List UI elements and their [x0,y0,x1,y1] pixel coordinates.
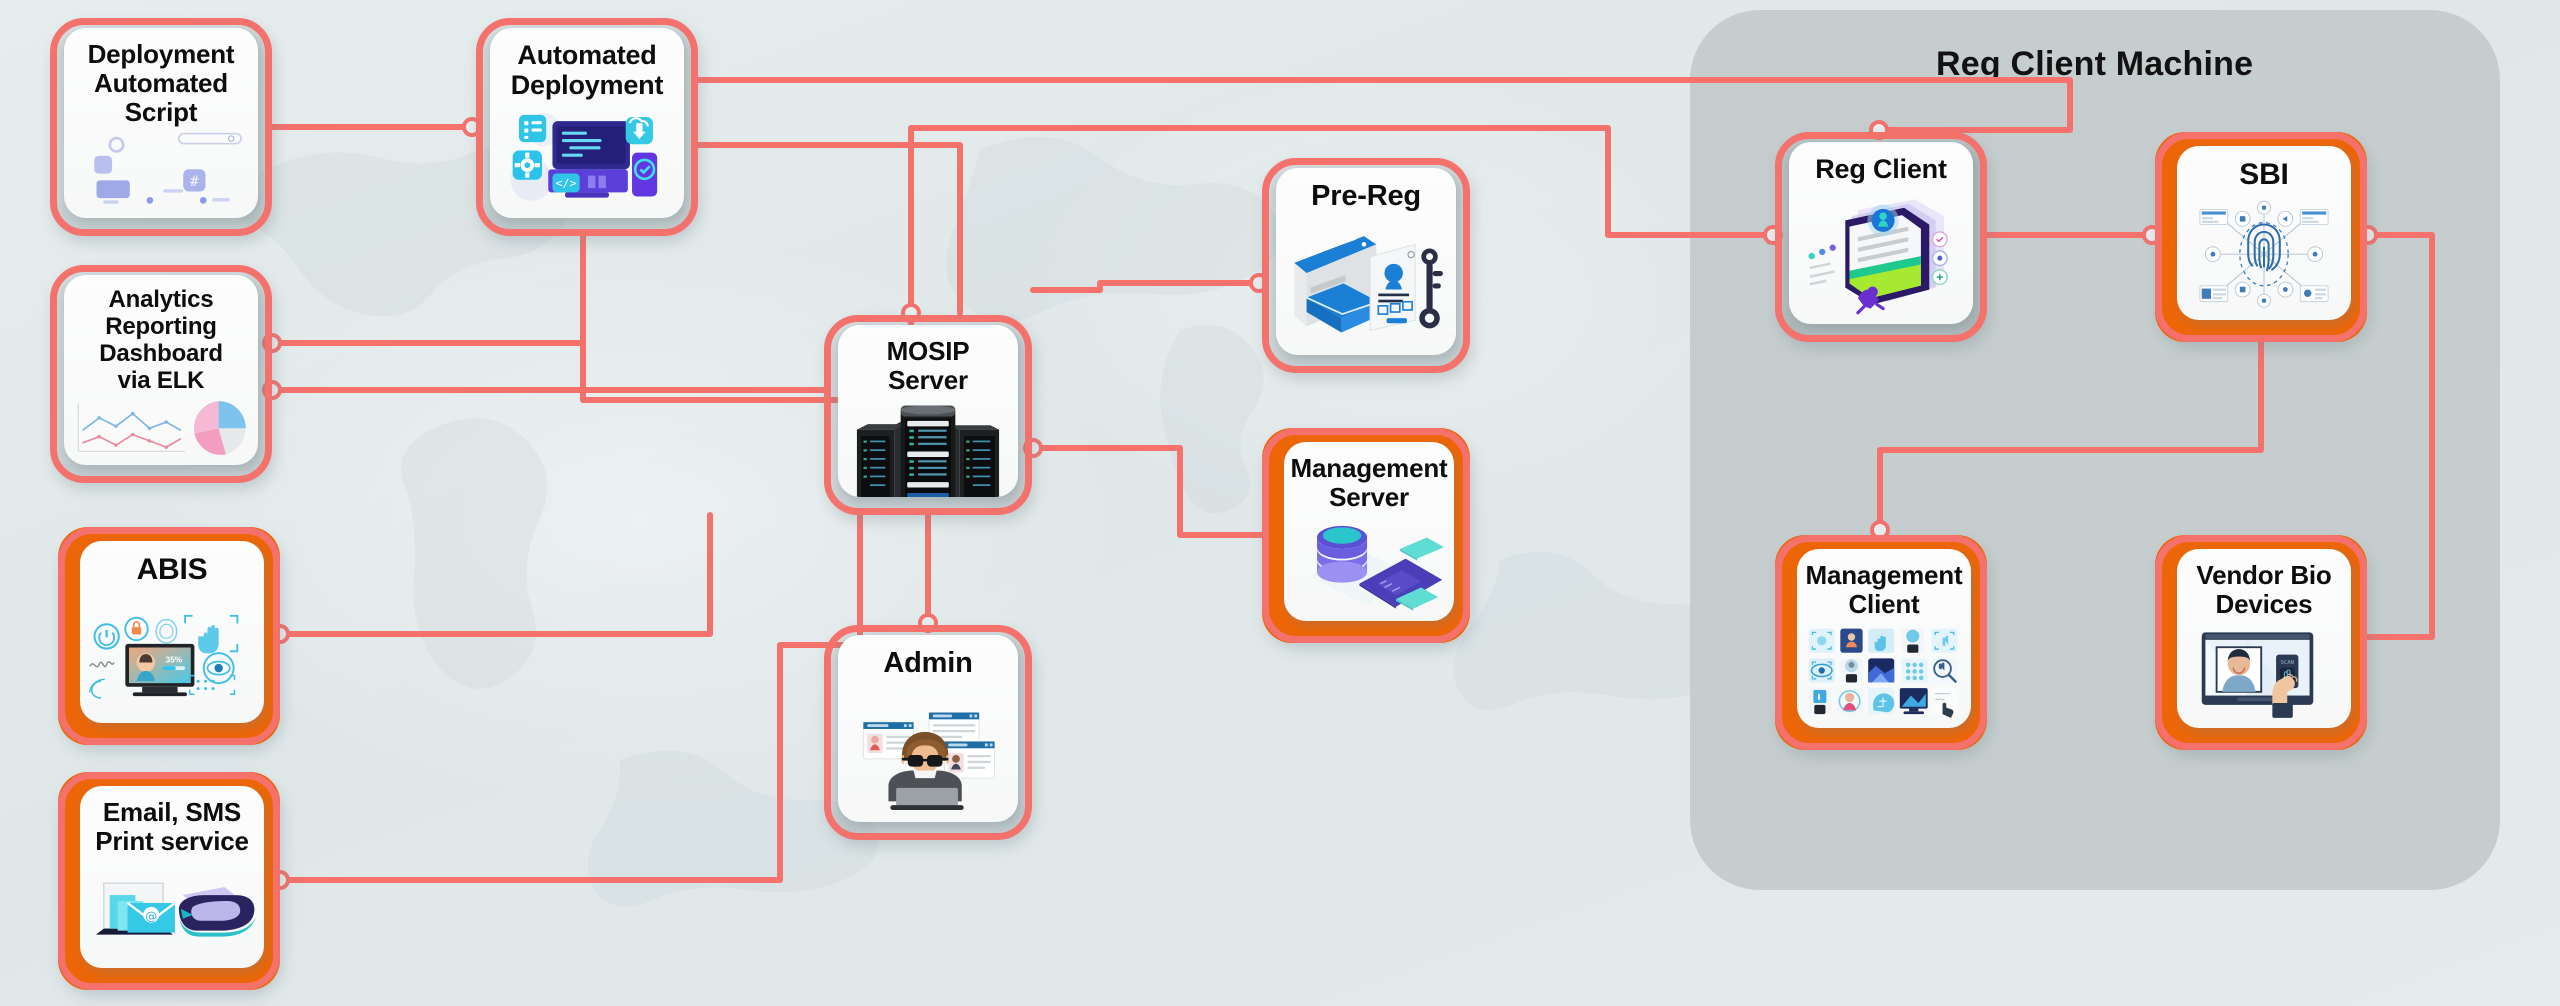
node-label: Management Client [1798,549,1971,619]
svg-text:@: @ [145,909,157,923]
node-abis[interactable]: ABIS [58,527,280,745]
node-card: Reg Client [1789,142,1973,324]
node-label: Automated Deployment [503,28,672,100]
node-sbi[interactable]: SBI [2155,132,2367,342]
mobile-form-icon [1789,184,1973,324]
node-card: Management Client [1797,549,1971,728]
node-label: Deployment Automated Script [80,28,243,127]
node-card: Email, SMS Print service @ [80,786,264,968]
node-card: Vendor Bio Devices SCAN [2177,549,2351,728]
node-card: Pre-Reg [1276,168,1456,355]
fingerprint-network-icon [2177,192,2351,320]
node-mosip-server[interactable]: MOSIP Server [824,315,1032,515]
node-label: ABIS [129,541,216,587]
node-card: Deployment Automated Script # [64,28,258,218]
diagram-canvas: Reg Client Machine [0,0,2560,1006]
server-racks-icon [838,395,1018,497]
admin-person-icon [838,679,1018,822]
node-label: Analytics Reporting Dashboard via ELK [91,275,231,395]
svg-text:35%: 35% [165,654,182,664]
node-card: Admin [838,635,1018,822]
node-card: Automated Deployment [490,28,684,218]
mail-print-icon: @ [80,856,264,968]
node-email-sms-print-service[interactable]: Email, SMS Print service @ [58,772,280,990]
script-dashboard-icon: # [64,127,258,218]
biometrics-icon: 35% [80,587,264,723]
node-card: MOSIP Server [838,325,1018,497]
node-label: Admin [875,635,980,679]
biometric-icon-grid [1797,619,1971,728]
devops-icon: </> [490,100,684,218]
node-pre-reg[interactable]: Pre-Reg [1262,158,1470,373]
node-label: Vendor Bio Devices [2188,549,2339,619]
node-analytics-reporting-dashboard[interactable]: Analytics Reporting Dashboard via ELK [50,265,272,483]
node-label: SBI [2231,146,2296,192]
node-vendor-bio-devices[interactable]: Vendor Bio Devices SCAN [2155,535,2367,750]
node-card: Management Server [1284,442,1454,621]
node-label: Reg Client [1807,142,1955,184]
bio-scanner-icon: SCAN [2177,619,2351,728]
node-card: Analytics Reporting Dashboard via ELK [64,275,258,465]
node-management-server[interactable]: Management Server [1262,428,1470,643]
node-reg-client[interactable]: Reg Client [1775,132,1987,342]
node-management-client[interactable]: Management Client [1775,535,1987,750]
node-label: MOSIP Server [838,325,1018,395]
node-deployment-automated-script[interactable]: Deployment Automated Script # [50,18,272,236]
node-admin[interactable]: Admin [824,625,1032,840]
svg-text:#: # [190,174,199,190]
node-label: Management Server [1284,442,1454,512]
database-icon [1284,512,1454,621]
charts-icon [64,395,258,466]
node-automated-deployment[interactable]: Automated Deployment [476,18,698,236]
svg-text:</>: </> [556,177,577,191]
node-card: ABIS [80,541,264,723]
node-label: Email, SMS Print service [87,786,257,856]
node-label: Pre-Reg [1303,168,1429,212]
prereg-icon [1276,212,1456,355]
node-card: SBI [2177,146,2351,320]
svg-text:SCAN: SCAN [2281,660,2294,666]
